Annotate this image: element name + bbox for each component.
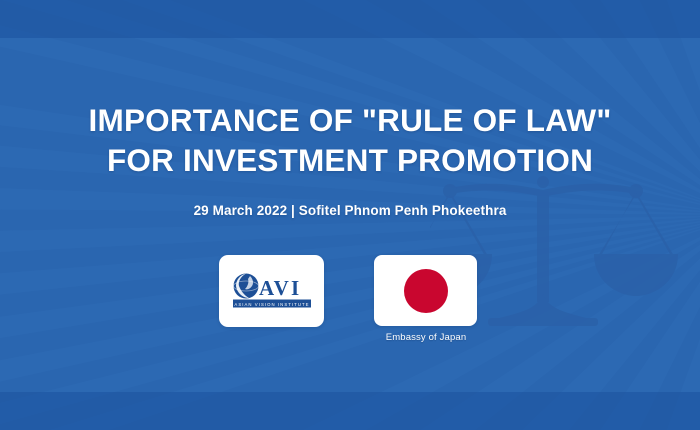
japan-flag-disc: [404, 269, 448, 313]
page-title: IMPORTANCE OF "RULE OF LAW" FOR INVESTME…: [0, 100, 700, 180]
japan-flag-icon: [374, 255, 477, 326]
globe-icon: [234, 274, 259, 299]
avi-logo-card: AVI ASIAN VISION INSTITUTE: [219, 255, 324, 327]
avi-logo: AVI ASIAN VISION INSTITUTE: [219, 255, 324, 327]
event-banner: IMPORTANCE OF "RULE OF LAW" FOR INVESTME…: [0, 0, 700, 430]
logo-row: AVI ASIAN VISION INSTITUTE Embassy of Ja…: [0, 253, 700, 353]
avi-tagline: ASIAN VISION INSTITUTE: [234, 302, 309, 307]
embassy-of-japan-caption: Embassy of Japan: [350, 332, 502, 343]
avi-wordmark: AVI: [259, 276, 301, 300]
title-line-1: IMPORTANCE OF "RULE OF LAW": [0, 100, 700, 140]
banner-content: IMPORTANCE OF "RULE OF LAW" FOR INVESTME…: [0, 0, 700, 430]
title-line-2: FOR INVESTMENT PROMOTION: [0, 140, 700, 180]
event-details: 29 March 2022 | Sofitel Phnom Penh Phoke…: [0, 203, 700, 218]
